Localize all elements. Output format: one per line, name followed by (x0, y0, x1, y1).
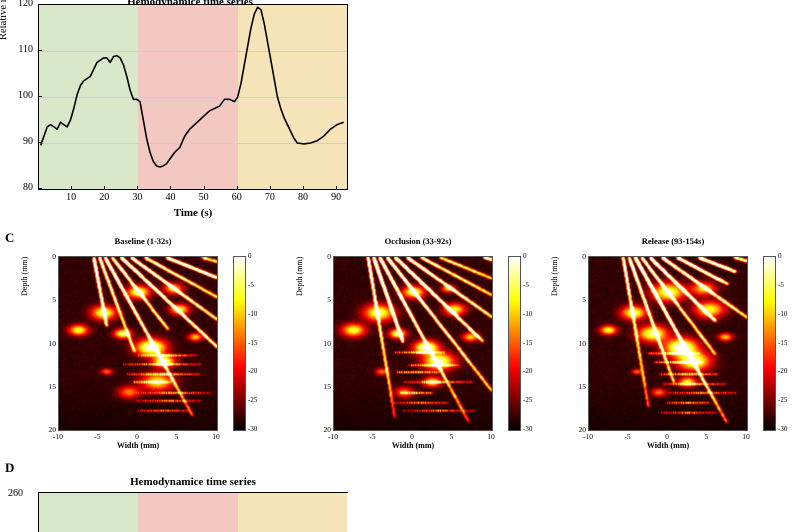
colorbar-tick: -5 (778, 281, 784, 289)
tick-mark (38, 50, 42, 51)
panel-d-plot-area (38, 492, 348, 532)
colorbar-tick: 0 (523, 252, 527, 260)
image-ytick: 0 (315, 252, 331, 261)
panel-d-letter: D (5, 460, 14, 476)
image-xtick: 5 (444, 432, 460, 441)
colorbar (763, 256, 776, 431)
image-ytick: 5 (570, 295, 586, 304)
image-xtick: -5 (90, 432, 106, 441)
colorbar-tick: 0 (248, 252, 252, 260)
panel-b-xtick: 60 (225, 192, 249, 203)
panel-b-ytick: 90 (0, 136, 33, 147)
tick-mark (336, 186, 337, 190)
tick-mark (237, 186, 238, 190)
tick-mark (71, 186, 72, 190)
colorbar-tick: -30 (778, 425, 787, 433)
tick-mark (38, 4, 42, 5)
image-xlabel: Width (mm) (333, 441, 493, 450)
tick-mark (303, 186, 304, 190)
panel-b-xtick: 30 (125, 192, 149, 203)
panel-d-title: Hemodynamice time series (38, 476, 348, 488)
colorbar-tick: -20 (523, 367, 532, 375)
colorbar-tick: -15 (778, 339, 787, 347)
ultrasound-image (588, 256, 748, 431)
image-block-occlusion: Occlusion (33-92s) Depth (mm) Width (mm)… (293, 236, 543, 456)
image-ytick: 10 (315, 339, 331, 348)
image-ytick: 10 (40, 339, 56, 348)
panel-b-xtick: 40 (158, 192, 182, 203)
colorbar-tick: -25 (248, 396, 257, 404)
image-ytick: 0 (40, 252, 56, 261)
colorbar-tick: -10 (523, 310, 532, 318)
colorbar-tick: -10 (248, 310, 257, 318)
panel-b-plot-area (38, 4, 348, 190)
colorbar (508, 256, 521, 431)
image-title: Release (93-154s) (548, 236, 798, 246)
ultrasound-image (333, 256, 493, 431)
image-xlabel: Width (mm) (588, 441, 748, 450)
image-ytick: 5 (40, 295, 56, 304)
image-xtick: 0 (659, 432, 675, 441)
phase-band-release (238, 493, 347, 532)
image-xtick: 0 (404, 432, 420, 441)
image-xtick: -10 (50, 432, 66, 441)
colorbar-tick: -20 (778, 367, 787, 375)
image-ytick: 15 (315, 382, 331, 391)
image-title: Occlusion (33-92s) (293, 236, 543, 246)
panel-b-ytick: 120 (0, 0, 33, 9)
image-ytick: 0 (570, 252, 586, 261)
image-xtick: 0 (129, 432, 145, 441)
panel-b-ytick: 110 (0, 44, 33, 55)
image-xlabel: Width (mm) (58, 441, 218, 450)
image-ytick: 15 (40, 382, 56, 391)
colorbar-tick: -30 (523, 425, 532, 433)
image-ytick: 5 (315, 295, 331, 304)
image-xtick: -5 (365, 432, 381, 441)
tick-mark (204, 186, 205, 190)
image-xtick: -10 (325, 432, 341, 441)
panel-b-timeseries: Hemodynamice time series Relative intens… (0, 0, 380, 228)
colorbar-tick: -25 (778, 396, 787, 404)
panel-b-xlabel: Time (s) (38, 207, 348, 219)
image-ylabel: Depth (mm) (295, 257, 304, 296)
tick-mark (104, 186, 105, 190)
image-xtick: 5 (699, 432, 715, 441)
panel-b-xtick: 70 (258, 192, 282, 203)
panel-c-images: C Baseline (1-32s) Depth (mm) Width (mm)… (0, 228, 800, 460)
colorbar-tick: -25 (523, 396, 532, 404)
image-xtick: 10 (738, 432, 754, 441)
image-xtick: 10 (208, 432, 224, 441)
panel-b-xtick: 80 (291, 192, 315, 203)
tick-mark (38, 96, 42, 97)
ultrasound-image (58, 256, 218, 431)
image-block-release: Release (93-154s) Depth (mm) Width (mm) … (548, 236, 798, 456)
panel-d-timeseries: D Hemodynamice time series 260 (0, 460, 800, 530)
tick-mark (137, 186, 138, 190)
colorbar-tick: -10 (778, 310, 787, 318)
colorbar-tick: -5 (248, 281, 254, 289)
colorbar-tick: -15 (248, 339, 257, 347)
colorbar-tick: -5 (523, 281, 529, 289)
image-ylabel: Depth (mm) (550, 257, 559, 296)
panel-b-xtick: 10 (59, 192, 83, 203)
colorbar-tick: -20 (248, 367, 257, 375)
image-block-baseline: Baseline (1-32s) Depth (mm) Width (mm) 0… (18, 236, 268, 456)
tick-mark (270, 186, 271, 190)
image-ylabel: Depth (mm) (20, 257, 29, 296)
panel-b-xtick: 90 (324, 192, 348, 203)
colorbar-tick: -15 (523, 339, 532, 347)
image-xtick: -10 (580, 432, 596, 441)
image-xtick: 5 (169, 432, 185, 441)
timeseries-line (39, 5, 347, 189)
image-ytick: 10 (570, 339, 586, 348)
colorbar-tick: 0 (778, 252, 782, 260)
panel-b-ytick: 100 (0, 90, 33, 101)
colorbar-tick: -30 (248, 425, 257, 433)
image-title: Baseline (1-32s) (18, 236, 268, 246)
phase-band-occlusion (138, 493, 237, 532)
panel-d-ytick: 260 (8, 488, 23, 499)
panel-b-xtick: 20 (92, 192, 116, 203)
image-xtick: -5 (620, 432, 636, 441)
tick-mark (38, 188, 42, 189)
tick-mark (38, 142, 42, 143)
image-ytick: 15 (570, 382, 586, 391)
colorbar (233, 256, 246, 431)
panel-b-xtick: 50 (192, 192, 216, 203)
panel-c-letter: C (5, 230, 14, 246)
tick-mark (170, 186, 171, 190)
panel-b-ytick: 80 (0, 182, 33, 193)
image-xtick: 10 (483, 432, 499, 441)
phase-band-baseline (39, 493, 138, 532)
